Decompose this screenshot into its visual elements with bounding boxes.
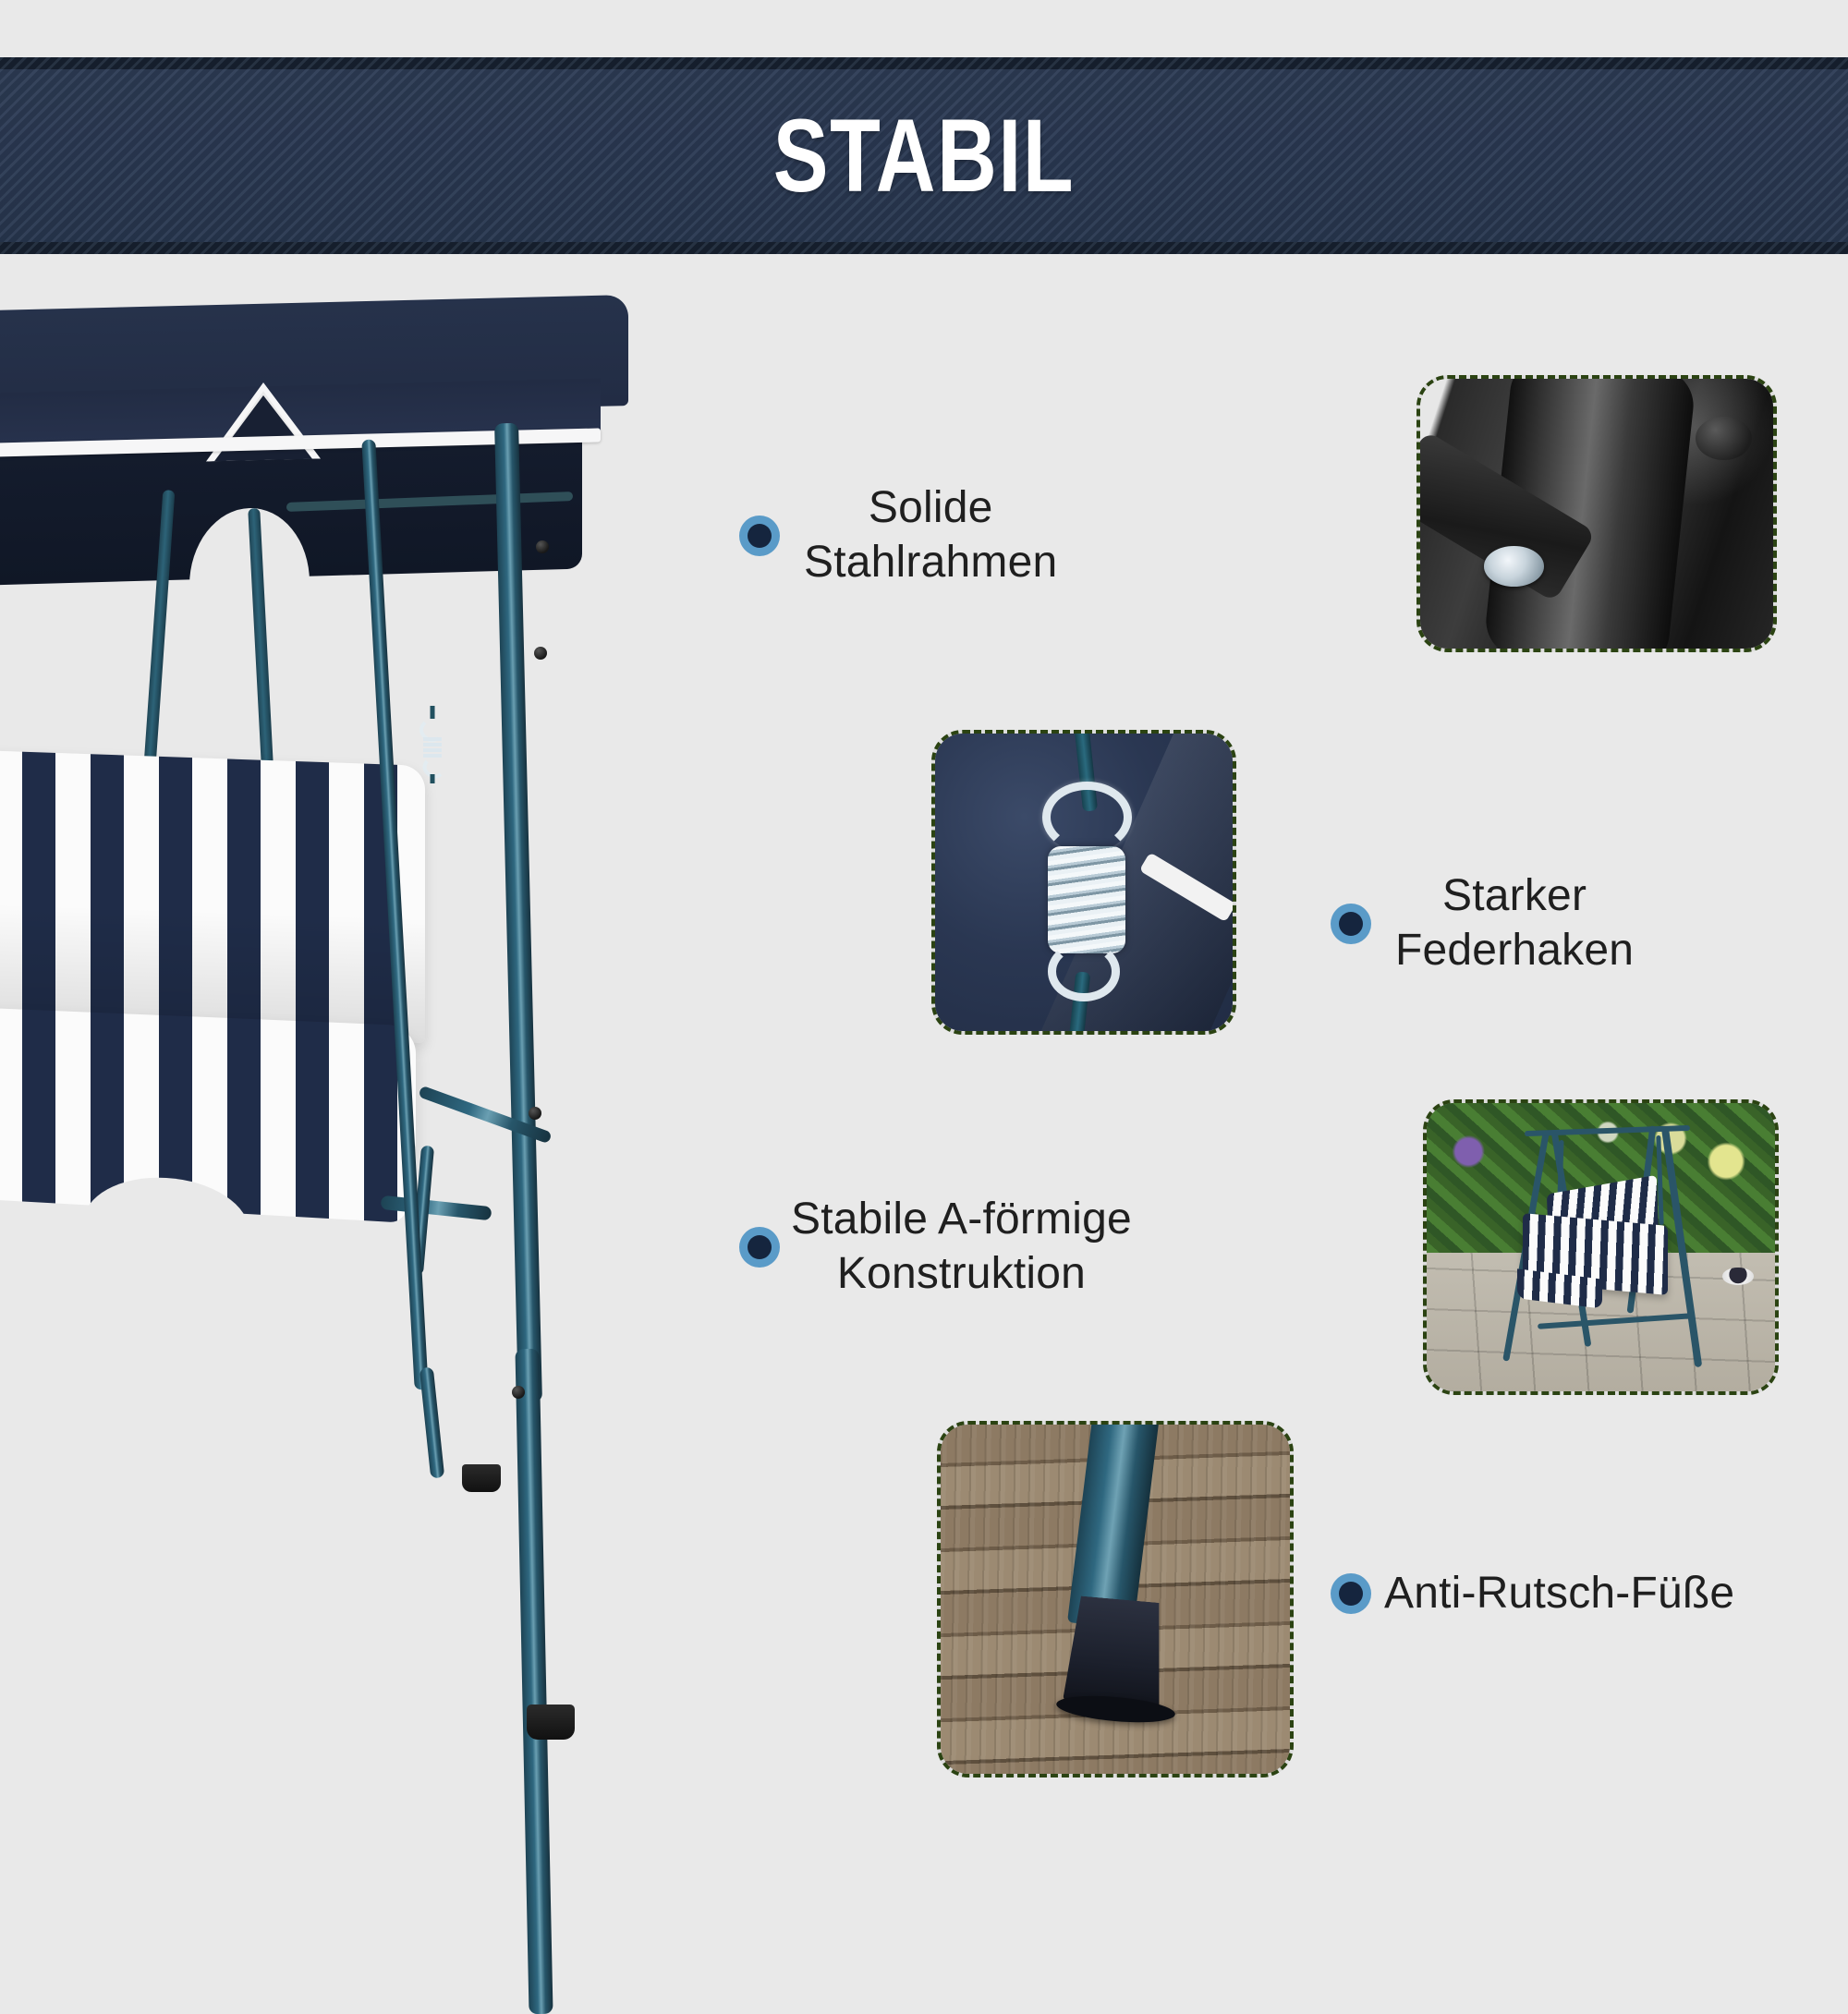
spring-hook-image: [935, 734, 1233, 1031]
garden-swing-image: [1427, 1103, 1775, 1391]
frame-bolt-mid: [534, 647, 547, 660]
garden-swing-frame: [1482, 1121, 1732, 1368]
garden-cup-and-saucer: [1722, 1268, 1754, 1285]
feature-row-strong-spring-hook: Starker Federhaken: [1331, 822, 1811, 1025]
feature-row-stable-a-frame: Stabile A-förmige Konstruktion: [739, 1136, 1386, 1358]
frame-rear-lower: [419, 1367, 444, 1479]
bullet-dot-icon: [1331, 904, 1371, 944]
anti-slip-foot-photo: [937, 1421, 1294, 1777]
steel-frame-joint-image: [1420, 379, 1773, 649]
feature-label-group-2: Starker Federhaken: [1331, 869, 1634, 977]
frame-bolt-top: [536, 540, 549, 553]
bullet-dot-icon: [1331, 1573, 1371, 1614]
garden-swing-photo: [1423, 1099, 1779, 1395]
frame-front-foot: [527, 1705, 575, 1740]
hook-lower-curve: [1048, 941, 1119, 1001]
frame-bolt-lower: [512, 1386, 525, 1399]
feature-label-4: Anti-Rutsch-Füße: [1384, 1567, 1734, 1621]
feature-label-group-3: Stabile A-förmige Konstruktion: [739, 1193, 1132, 1301]
spring-hook-photo: [931, 730, 1236, 1035]
frame-knob-shape: [1696, 417, 1752, 460]
bullet-dot-icon: [739, 1227, 780, 1268]
feature-label-group-1: Solide Stahlrahmen: [739, 481, 1220, 589]
anti-slip-foot-image: [941, 1425, 1290, 1774]
page-title: STABIL: [185, 57, 1663, 254]
feature-label-3: Stabile A-förmige Konstruktion: [791, 1193, 1132, 1301]
feature-label-1: Solide Stahlrahmen: [804, 481, 1057, 589]
spring-coils-shape: [1048, 846, 1125, 953]
feature-label-2: Starker Federhaken: [1395, 869, 1634, 977]
garden-bottom-rail: [1538, 1313, 1693, 1329]
bullet-dot-icon: [739, 516, 780, 556]
frame-screw-shape: [1484, 546, 1544, 587]
frame-bolt-brace: [529, 1107, 541, 1120]
product-photo-swing-bench: [0, 277, 739, 1848]
seat-backrest-shadow: [0, 749, 425, 1043]
frame-rear-foot: [462, 1464, 501, 1492]
steel-frame-joint-photo: [1416, 375, 1777, 652]
frame-front-leg-lower: [515, 1349, 553, 2014]
header-banner: STABIL: [0, 57, 1848, 254]
hook-upper-curve: [1042, 782, 1132, 853]
feature-label-group-4: Anti-Rutsch-Füße: [1331, 1567, 1734, 1621]
feature-row-anti-slip-feet: Anti-Rutsch-Füße: [1331, 1538, 1830, 1649]
spring-hook-icon: [416, 704, 449, 783]
